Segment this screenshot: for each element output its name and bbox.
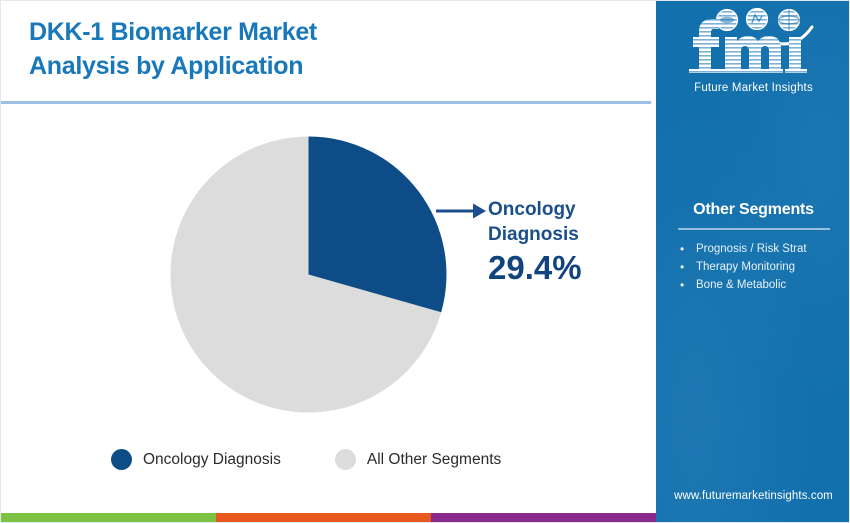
title-divider (1, 101, 651, 104)
legend-swatch-icon (111, 449, 132, 470)
fmi-logo: Future Market Insights (656, 7, 850, 94)
legend-item-label: Oncology Diagnosis (143, 451, 281, 469)
bottom-bar-segment-green (1, 513, 216, 523)
other-segments-panel: Other Segments Prognosis / Risk Strat Th… (656, 201, 850, 294)
list-item: Bone & Metabolic (680, 276, 850, 294)
legend-item-label: All Other Segments (367, 451, 501, 469)
fmi-logo-icon (669, 7, 839, 79)
content-area: DKK-1 Biomarker Market Analysis by Appli… (1, 1, 656, 523)
bottom-color-bar (1, 513, 656, 523)
bottom-bar-segment-purple (431, 513, 656, 523)
other-segments-list: Prognosis / Risk Strat Therapy Monitorin… (656, 240, 850, 294)
chart-legend: Oncology Diagnosis All Other Segments (111, 449, 501, 470)
pie-chart-svg (170, 136, 447, 413)
website-url[interactable]: www.futuremarketinsights.com (656, 490, 850, 502)
callout-label-line-2: Diagnosis (488, 222, 653, 247)
callout-value: 29.4% (488, 249, 653, 287)
fmi-logo-tagline: Future Market Insights (656, 82, 850, 94)
callout-label-line-1: Oncology (488, 197, 653, 222)
infographic-card: DKK-1 Biomarker Market Analysis by Appli… (0, 0, 850, 523)
other-segments-divider (678, 228, 830, 230)
legend-swatch-icon (335, 449, 356, 470)
list-item: Prognosis / Risk Strat (680, 240, 850, 258)
bottom-bar-segment-orange (216, 513, 431, 523)
brand-sidebar: Future Market Insights Other Segments Pr… (656, 1, 850, 523)
other-segments-title: Other Segments (656, 201, 850, 219)
page-title-line-2: Analysis by Application (29, 49, 629, 83)
legend-item-all-other-segments[interactable]: All Other Segments (335, 449, 501, 470)
callout-label: Oncology Diagnosis 29.4% (488, 197, 653, 287)
list-item: Therapy Monitoring (680, 258, 850, 276)
pie-chart (170, 136, 447, 413)
page-title: DKK-1 Biomarker Market Analysis by Appli… (29, 15, 629, 83)
page-title-line-1: DKK-1 Biomarker Market (29, 15, 629, 49)
legend-item-oncology-diagnosis[interactable]: Oncology Diagnosis (111, 449, 281, 470)
arrow-right-icon (435, 199, 487, 223)
